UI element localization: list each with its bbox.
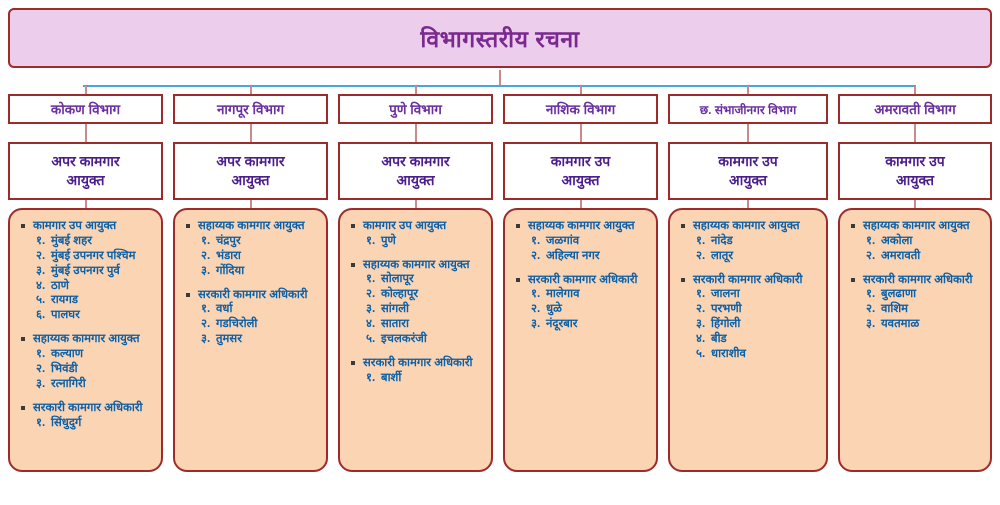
department-label: कोकण विभाग — [51, 100, 120, 118]
office-group: सहाय्यक कामगार आयुक्त१.जळगांव२.अहिल्या न… — [513, 219, 650, 264]
connector-department-to-role-4 — [580, 124, 582, 142]
list-item: ५.धाराशीव — [696, 347, 820, 362]
list-item: १.वर्धा — [201, 302, 320, 317]
list-item-label: बीड — [711, 333, 727, 345]
office-location-list: १.पुणे — [348, 234, 485, 249]
role-box-4[interactable]: कामगार उप आयुक्त — [503, 142, 658, 200]
list-item: २.कोल्हापूर — [366, 287, 485, 302]
list-item-number: ५. — [36, 293, 51, 308]
list-item: २.भिवंडी — [36, 362, 155, 377]
list-item-number: १. — [366, 234, 381, 249]
list-item: ५.रायगड — [36, 293, 155, 308]
page-title: विभागस्तरीय रचना — [420, 22, 579, 54]
office-location-list: १.सिंधुदुर्ग — [18, 416, 155, 431]
list-item-label: परभणी — [711, 303, 742, 315]
list-item-number: १. — [201, 234, 216, 249]
list-item-number: २. — [531, 249, 546, 264]
list-item: १.जळगांव — [531, 234, 650, 249]
office-location-list: १.जालना२.परभणी३.हिंगोली४.बीड५.धाराशीव — [678, 287, 820, 362]
office-group: सहाय्यक कामगार आयुक्त१.अकोला२.अमरावती — [848, 219, 984, 264]
list-item-number: ३. — [531, 317, 546, 332]
list-item-number: २. — [866, 302, 881, 317]
content-panel-3: कामगार उप आयुक्त१.पुणेसहाय्यक कामगार आयु… — [338, 208, 493, 472]
role-label: कामगार उप आयुक्त — [551, 152, 611, 190]
role-label: अपर कामगार आयुक्त — [381, 152, 449, 190]
list-item-number: २. — [696, 249, 711, 264]
list-item-number: ४. — [366, 317, 381, 332]
list-item: १.बुलढाणा — [866, 287, 984, 302]
connector-bus-to-department-6 — [914, 86, 916, 94]
office-location-list: १.बार्शी — [348, 371, 485, 386]
list-item: १.मालेगाव — [531, 287, 650, 302]
office-location-list: १.मालेगाव२.धुळे३.नंदूरबार — [513, 287, 650, 332]
list-item: २.भंडारा — [201, 249, 320, 264]
office-group: सरकारी कामगार अधिकारी१.बुलढाणा२.वाशिम३.य… — [848, 273, 984, 333]
role-label: कामगार उप आयुक्त — [718, 152, 778, 190]
list-item-label: कल्याण — [51, 348, 83, 360]
content-panel-6: सहाय्यक कामगार आयुक्त१.अकोला२.अमरावतीसरक… — [838, 208, 992, 472]
list-item-number: ३. — [36, 264, 51, 279]
role-box-1[interactable]: अपर कामगार आयुक्त — [8, 142, 163, 200]
list-item: २.लातूर — [696, 249, 820, 264]
list-item: ४.बीड — [696, 332, 820, 347]
role-box-6[interactable]: कामगार उप आयुक्त — [838, 142, 992, 200]
office-group-heading: सरकारी कामगार अधिकारी — [348, 356, 485, 371]
role-box-2[interactable]: अपर कामगार आयुक्त — [173, 142, 328, 200]
list-item-number: २. — [866, 249, 881, 264]
list-item-label: रत्नागिरी — [51, 378, 86, 390]
chart-title-banner: विभागस्तरीय रचना — [8, 8, 992, 68]
office-location-list: १.मुंबई शहर२.मुंबई उपनगर पश्चिम३.मुंबई उ… — [18, 234, 155, 324]
list-item-label: रायगड — [51, 294, 78, 306]
office-location-list: १.वर्धा२.गडचिरोली३.तुमसर — [183, 302, 320, 347]
department-box-6[interactable]: अमरावती विभाग — [838, 94, 992, 124]
list-item-number: १. — [866, 234, 881, 249]
list-item-number: ३. — [366, 302, 381, 317]
list-item: ३.हिंगोली — [696, 317, 820, 332]
office-group: कामगार उप आयुक्त१.मुंबई शहर२.मुंबई उपनगर… — [18, 219, 155, 323]
list-item-number: २. — [696, 302, 711, 317]
office-group-heading: सरकारी कामगार अधिकारी — [848, 273, 984, 288]
list-item-label: सांगली — [381, 303, 409, 315]
list-item-number: ६. — [36, 308, 51, 323]
connector-department-to-role-3 — [415, 124, 417, 142]
connector-bus-to-department-3 — [415, 86, 417, 94]
list-item-number: ३. — [696, 317, 711, 332]
list-item-number: १. — [36, 347, 51, 362]
list-item: २.वाशिम — [866, 302, 984, 317]
connector-department-to-role-2 — [250, 124, 252, 142]
list-item-label: कोल्हापूर — [381, 288, 418, 300]
office-group: सहाय्यक कामगार आयुक्त१.सोलापूर२.कोल्हापू… — [348, 258, 485, 347]
list-item-number: १. — [201, 302, 216, 317]
office-location-list: १.कल्याण२.भिवंडी३.रत्नागिरी — [18, 347, 155, 392]
list-item-number: १. — [531, 234, 546, 249]
content-panel-1: कामगार उप आयुक्त१.मुंबई शहर२.मुंबई उपनगर… — [8, 208, 163, 472]
list-item-label: हिंगोली — [711, 318, 740, 330]
list-item-number: ३. — [201, 264, 216, 279]
list-item-label: मुंबई उपनगर पुर्व — [51, 265, 120, 277]
list-item-number: ५. — [366, 332, 381, 347]
list-item-label: पालघर — [51, 309, 80, 321]
office-group: सहाय्यक कामगार आयुक्त१.चंद्रपुर२.भंडारा३… — [183, 219, 320, 279]
list-item: २.मुंबई उपनगर पश्चिम — [36, 249, 155, 264]
office-location-list: १.अकोला२.अमरावती — [848, 234, 984, 264]
list-item: १.चंद्रपुर — [201, 234, 320, 249]
content-panel-2: सहाय्यक कामगार आयुक्त१.चंद्रपुर२.भंडारा३… — [173, 208, 328, 472]
list-item-number: २. — [201, 249, 216, 264]
office-group: सरकारी कामगार अधिकारी१.मालेगाव२.धुळे३.नं… — [513, 273, 650, 333]
office-location-list: १.बुलढाणा२.वाशिम३.यवतमाळ — [848, 287, 984, 332]
list-item-label: वर्धा — [216, 303, 232, 315]
office-location-list: १.नांदेड२.लातूर — [678, 234, 820, 264]
role-label: अपर कामगार आयुक्त — [216, 152, 284, 190]
office-group-heading: सरकारी कामगार अधिकारी — [18, 401, 155, 416]
list-item-label: अहिल्या नगर — [546, 250, 600, 262]
role-box-3[interactable]: अपर कामगार आयुक्त — [338, 142, 493, 200]
office-group-heading: सहाय्यक कामगार आयुक्त — [18, 332, 155, 347]
list-item-number: १. — [366, 371, 381, 386]
list-item-number: २. — [531, 302, 546, 317]
connector-bus-to-department-4 — [580, 86, 582, 94]
office-location-list: १.चंद्रपुर२.भंडारा३.गोंदिया — [183, 234, 320, 279]
list-item-label: सिंधुदुर्ग — [51, 417, 81, 429]
office-group-heading: सरकारी कामगार अधिकारी — [183, 288, 320, 303]
list-item-number: १. — [36, 416, 51, 431]
list-item-label: ठाणे — [51, 280, 69, 292]
list-item-label: धुळे — [546, 303, 562, 315]
list-item: ३.तुमसर — [201, 332, 320, 347]
list-item-label: गडचिरोली — [216, 318, 257, 330]
department-box-2[interactable]: नागपूर विभाग — [173, 94, 328, 124]
list-item-label: अकोला — [881, 235, 912, 247]
list-item: २.अमरावती — [866, 249, 984, 264]
list-item-number: २. — [366, 287, 381, 302]
list-item-label: वाशिम — [881, 303, 908, 315]
list-item-number: ४. — [36, 279, 51, 294]
list-item-number: ४. — [696, 332, 711, 347]
office-group-heading: सरकारी कामगार अधिकारी — [513, 273, 650, 288]
office-group-heading: सहाय्यक कामगार आयुक्त — [513, 219, 650, 234]
department-label: नागपूर विभाग — [217, 100, 284, 118]
list-item: २.धुळे — [531, 302, 650, 317]
role-label: कामगार उप आयुक्त — [885, 152, 945, 190]
role-label: अपर कामगार आयुक्त — [51, 152, 119, 190]
list-item: ५.इचलकरंजी — [366, 332, 485, 347]
list-item-label: इचलकरंजी — [381, 333, 427, 345]
connector-bus-to-department-2 — [250, 86, 252, 94]
list-item-label: पुणे — [381, 235, 396, 247]
list-item-label: सातारा — [381, 318, 409, 330]
list-item-label: बार्शी — [381, 372, 401, 384]
office-group: सहाय्यक कामगार आयुक्त१.कल्याण२.भिवंडी३.र… — [18, 332, 155, 392]
list-item: ३.सांगली — [366, 302, 485, 317]
list-item-label: बुलढाणा — [881, 288, 916, 300]
list-item: २.अहिल्या नगर — [531, 249, 650, 264]
list-item-label: मालेगाव — [546, 288, 580, 300]
list-item-number: १. — [696, 287, 711, 302]
list-item-label: जालना — [711, 288, 740, 300]
office-group: कामगार उप आयुक्त१.पुणे — [348, 219, 485, 249]
office-group-heading: सहाय्यक कामगार आयुक्त — [678, 219, 820, 234]
role-box-5[interactable]: कामगार उप आयुक्त — [668, 142, 828, 200]
list-item: ३.मुंबई उपनगर पुर्व — [36, 264, 155, 279]
list-item-number: १. — [366, 272, 381, 287]
department-box-3[interactable]: पुणे विभाग — [338, 94, 493, 124]
list-item: १.सिंधुदुर्ग — [36, 416, 155, 431]
list-item-number: ३. — [201, 332, 216, 347]
list-item: १.पुणे — [366, 234, 485, 249]
office-group: सहाय्यक कामगार आयुक्त१.नांदेड२.लातूर — [678, 219, 820, 264]
list-item-label: चंद्रपुर — [216, 235, 241, 247]
list-item-label: धाराशीव — [711, 348, 746, 360]
list-item: १.बार्शी — [366, 371, 485, 386]
content-panel-4: सहाय्यक कामगार आयुक्त१.जळगांव२.अहिल्या न… — [503, 208, 658, 472]
list-item: १.कल्याण — [36, 347, 155, 362]
connector-horizontal-bus — [83, 85, 916, 87]
list-item-label: तुमसर — [216, 333, 242, 345]
office-group-heading: कामगार उप आयुक्त — [348, 219, 485, 234]
list-item: ३.नंदूरबार — [531, 317, 650, 332]
list-item-label: सोलापूर — [381, 273, 414, 285]
office-group: सरकारी कामगार अधिकारी१.बार्शी — [348, 356, 485, 386]
list-item: २.परभणी — [696, 302, 820, 317]
list-item-number: ५. — [696, 347, 711, 362]
list-item-number: १. — [36, 234, 51, 249]
list-item-number: २. — [36, 249, 51, 264]
department-label: अमरावती विभाग — [874, 100, 955, 118]
department-label: छ. संभाजीनगर विभाग — [700, 101, 797, 118]
list-item-number: ३. — [866, 317, 881, 332]
department-box-5[interactable]: छ. संभाजीनगर विभाग — [668, 94, 828, 124]
office-group-heading: सरकारी कामगार अधिकारी — [678, 273, 820, 288]
list-item: १.नांदेड — [696, 234, 820, 249]
office-group-heading: सहाय्यक कामगार आयुक्त — [348, 258, 485, 273]
list-item-label: भिवंडी — [51, 363, 78, 375]
connector-department-to-role-1 — [85, 124, 87, 142]
content-panel-5: सहाय्यक कामगार आयुक्त१.नांदेड२.लातूरसरका… — [668, 208, 828, 472]
list-item-number: २. — [36, 362, 51, 377]
connector-department-to-role-6 — [914, 124, 916, 142]
connector-bus-to-department-1 — [85, 86, 87, 94]
department-box-4[interactable]: नाशिक विभाग — [503, 94, 658, 124]
list-item-label: मुंबई उपनगर पश्चिम — [51, 250, 135, 262]
list-item-label: नांदेड — [711, 235, 733, 247]
office-location-list: १.जळगांव२.अहिल्या नगर — [513, 234, 650, 264]
list-item-label: नंदूरबार — [546, 318, 577, 330]
list-item-label: यवतमाळ — [881, 318, 919, 330]
list-item: १.जालना — [696, 287, 820, 302]
connector-title-stem — [499, 70, 501, 86]
list-item: ३.गोंदिया — [201, 264, 320, 279]
list-item: ४.सातारा — [366, 317, 485, 332]
list-item-number: ३. — [36, 377, 51, 392]
office-group: सरकारी कामगार अधिकारी१.सिंधुदुर्ग — [18, 401, 155, 431]
list-item-label: मुंबई शहर — [51, 235, 92, 247]
list-item: १.सोलापूर — [366, 272, 485, 287]
office-group-heading: सहाय्यक कामगार आयुक्त — [848, 219, 984, 234]
list-item: ६.पालघर — [36, 308, 155, 323]
list-item-label: जळगांव — [546, 235, 579, 247]
department-label: पुणे विभाग — [389, 100, 442, 118]
office-group-heading: कामगार उप आयुक्त — [18, 219, 155, 234]
connector-bus-to-department-5 — [747, 86, 749, 94]
list-item-number: १. — [531, 287, 546, 302]
list-item-label: लातूर — [711, 250, 733, 262]
list-item: १.मुंबई शहर — [36, 234, 155, 249]
office-group: सरकारी कामगार अधिकारी१.वर्धा२.गडचिरोली३.… — [183, 288, 320, 348]
department-label: नाशिक विभाग — [546, 100, 615, 118]
office-location-list: १.सोलापूर२.कोल्हापूर३.सांगली४.सातारा५.इच… — [348, 272, 485, 347]
list-item: ३.रत्नागिरी — [36, 377, 155, 392]
connector-department-to-role-5 — [747, 124, 749, 142]
list-item-number: १. — [866, 287, 881, 302]
office-group-heading: सहाय्यक कामगार आयुक्त — [183, 219, 320, 234]
department-box-1[interactable]: कोकण विभाग — [8, 94, 163, 124]
list-item: ३.यवतमाळ — [866, 317, 984, 332]
list-item-number: २. — [201, 317, 216, 332]
list-item-label: भंडारा — [216, 250, 241, 262]
list-item-label: गोंदिया — [216, 265, 244, 277]
list-item: २.गडचिरोली — [201, 317, 320, 332]
list-item: ४.ठाणे — [36, 279, 155, 294]
list-item: १.अकोला — [866, 234, 984, 249]
list-item-number: १. — [696, 234, 711, 249]
office-group: सरकारी कामगार अधिकारी१.जालना२.परभणी३.हिं… — [678, 273, 820, 362]
list-item-label: अमरावती — [881, 250, 920, 262]
